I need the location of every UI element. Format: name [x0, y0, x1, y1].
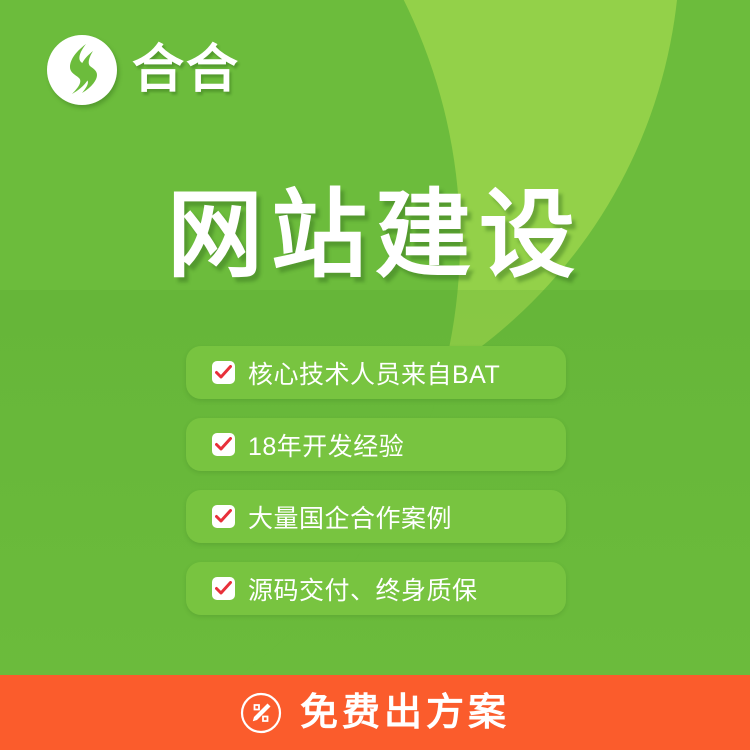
check-icon — [212, 433, 235, 456]
check-icon — [212, 577, 235, 600]
feature-list: 核心技术人员来自BAT 18年开发经验 大量国企合作案例 — [186, 346, 566, 615]
brand-header: 合合 — [46, 34, 240, 106]
pencil-document-circle-icon — [240, 692, 282, 734]
feature-label: 大量国企合作案例 — [248, 499, 452, 535]
cta-bar[interactable]: 免费出方案 — [0, 675, 750, 750]
feature-item: 18年开发经验 — [186, 418, 566, 471]
feature-label: 核心技术人员来自BAT — [248, 355, 500, 391]
check-icon — [212, 361, 235, 384]
hehe-circle-logo-icon — [46, 34, 118, 106]
feature-item: 大量国企合作案例 — [186, 490, 566, 543]
check-icon — [212, 505, 235, 528]
brand-name: 合合 — [132, 44, 240, 96]
feature-label: 源码交付、终身质保 — [248, 571, 478, 607]
feature-label: 18年开发经验 — [248, 427, 404, 463]
page-title: 网站建设 — [0, 188, 750, 284]
promo-poster: 合合 网站建设 核心技术人员来自BAT 18年开发经验 — [0, 0, 750, 750]
feature-item: 源码交付、终身质保 — [186, 562, 566, 615]
feature-item: 核心技术人员来自BAT — [186, 346, 566, 399]
cta-label: 免费出方案 — [300, 694, 510, 732]
